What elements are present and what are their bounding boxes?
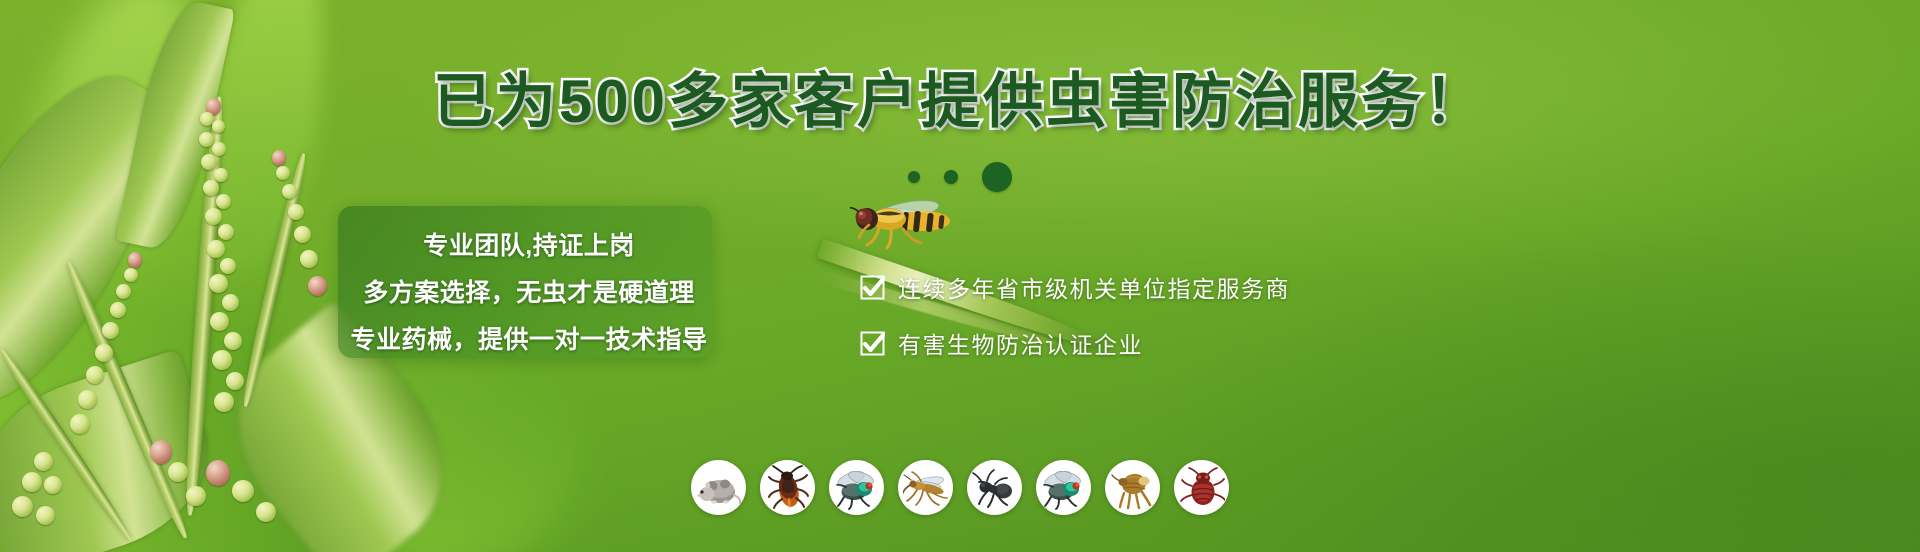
ant-icon xyxy=(972,465,1018,511)
mosquito-icon xyxy=(903,465,949,511)
checklist-item: 连续多年省市级机关单位指定服务商 xyxy=(860,270,1290,304)
flea-icon xyxy=(1110,465,1156,511)
cockroach-icon xyxy=(765,465,811,511)
pest-icon-flea[interactable] xyxy=(1105,460,1160,515)
feature-line-3: 专业药械，提供一对一技术指导 xyxy=(350,320,707,356)
checklist-item-label: 连续多年省市级机关单位指定服务商 xyxy=(898,270,1290,304)
pest-types-row xyxy=(0,460,1920,515)
bedbug-icon xyxy=(1179,465,1225,511)
checkbox-checked-icon xyxy=(860,331,885,356)
pest-icon-blowfly-2[interactable] xyxy=(1036,460,1091,515)
banner-headline-text: 已为500多家客户提供虫害防治服务！ xyxy=(433,68,1487,135)
banner-headline: 已为500多家客户提供虫害防治服务！ xyxy=(0,72,1920,132)
mouse-icon xyxy=(696,465,742,511)
pest-icon-mouse[interactable] xyxy=(691,460,746,515)
blowfly-icon-2 xyxy=(1041,465,1087,511)
feature-line-1: 专业团队,持证上岗 xyxy=(423,226,634,262)
dot-medium-icon xyxy=(944,170,958,184)
pest-icon-ant[interactable] xyxy=(967,460,1022,515)
pest-icon-bedbug[interactable] xyxy=(1174,460,1229,515)
checklist-item-label: 有害生物防治认证企业 xyxy=(898,326,1143,360)
checkbox-checked-icon xyxy=(860,275,885,300)
features-panel-text: 专业团队,持证上岗 多方案选择，无虫才是硬道理 专业药械，提供一对一技术指导 xyxy=(330,214,728,356)
credentials-checklist: 连续多年省市级机关单位指定服务商 有害生物防治认证企业 xyxy=(860,270,1290,360)
promo-banner: 已为500多家客户提供虫害防治服务！ 专业团队,持证上岗 多方案选择，无虫才是硬… xyxy=(0,0,1920,552)
hoverfly-icon xyxy=(845,196,955,252)
feature-line-2: 多方案选择，无虫才是硬道理 xyxy=(363,273,695,309)
pest-icon-blowfly[interactable] xyxy=(829,460,884,515)
pest-icon-cockroach[interactable] xyxy=(760,460,815,515)
dot-large-icon xyxy=(982,162,1012,192)
pest-icon-mosquito[interactable] xyxy=(898,460,953,515)
checklist-item: 有害生物防治认证企业 xyxy=(860,326,1290,360)
headline-dots-decoration xyxy=(0,162,1920,192)
dot-small-icon xyxy=(908,171,920,183)
blowfly-icon xyxy=(834,465,880,511)
